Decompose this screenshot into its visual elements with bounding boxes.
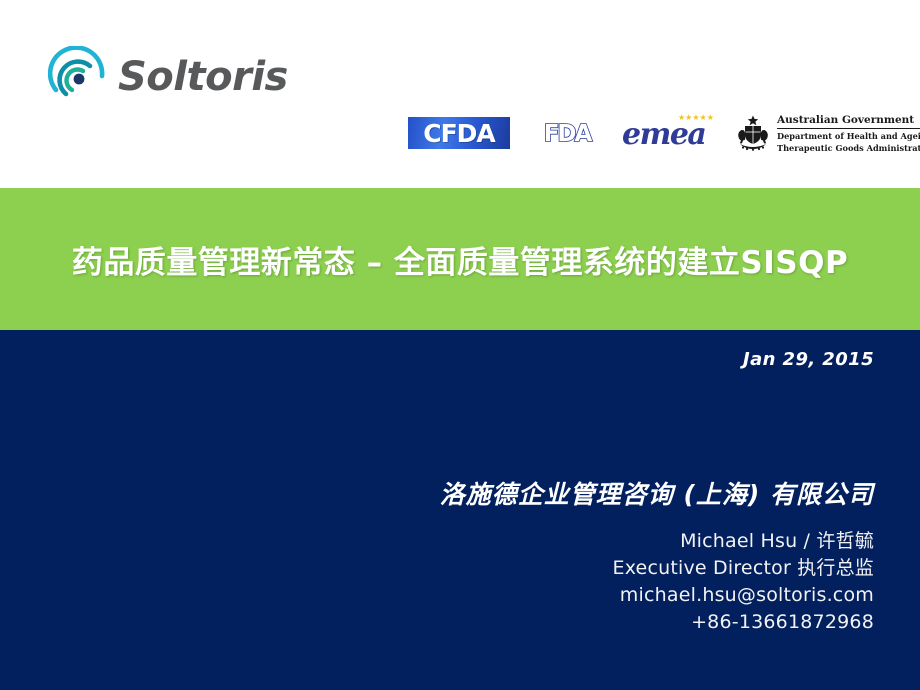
tga-logo-text: Australian Government Department of Heal… — [777, 114, 920, 153]
presenter-email: michael.hsu@soltoris.com — [612, 582, 874, 609]
soltoris-logo: Soltoris — [48, 44, 268, 110]
presentation-date: Jan 29, 2015 — [743, 349, 874, 370]
tga-government-title: Australian Government — [777, 114, 920, 128]
australian-coat-of-arms-icon — [734, 114, 772, 154]
tga-administration-line: Therapeutic Goods Administration — [777, 141, 920, 154]
slide-title-band: 药品质量管理新常态 – 全面质量管理系统的建立SISQP — [0, 188, 920, 330]
soltoris-wordmark: Soltoris — [118, 57, 288, 97]
presenter-contact-block: Michael Hsu / 许哲毓 Executive Director 执行总… — [612, 528, 874, 636]
presentation-title-slide: Soltoris CFDA FDA ★★★★★ emea — [0, 0, 920, 690]
emea-logo-text: emea — [622, 120, 705, 150]
fda-logo-text: FDA — [544, 121, 591, 147]
emea-logo: ★★★★★ emea — [622, 114, 718, 156]
presenter-phone: +86-13661872968 — [612, 609, 874, 636]
presenter-name: Michael Hsu / 许哲毓 — [612, 528, 874, 555]
presenter-role: Executive Director 执行总监 — [612, 555, 874, 582]
regulatory-agency-logos: CFDA FDA ★★★★★ emea — [404, 110, 884, 162]
tga-department-line: Department of Health and Ageing — [777, 129, 920, 142]
company-name: 洛施德企业管理咨询 (上海) 有限公司 — [440, 475, 874, 511]
soltoris-signal-arc-icon — [48, 46, 110, 108]
fda-logo: FDA — [534, 121, 600, 147]
slide-body-band: Jan 29, 2015 洛施德企业管理咨询 (上海) 有限公司 Michael… — [0, 330, 920, 690]
tga-australian-government-logo: Australian Government Department of Heal… — [734, 110, 884, 158]
slide-header-band: Soltoris CFDA FDA ★★★★★ emea — [0, 0, 920, 188]
cfda-logo-text: CFDA — [423, 119, 495, 148]
cfda-logo: CFDA — [408, 117, 510, 149]
slide-title: 药品质量管理新常态 – 全面质量管理系统的建立SISQP — [0, 237, 920, 282]
